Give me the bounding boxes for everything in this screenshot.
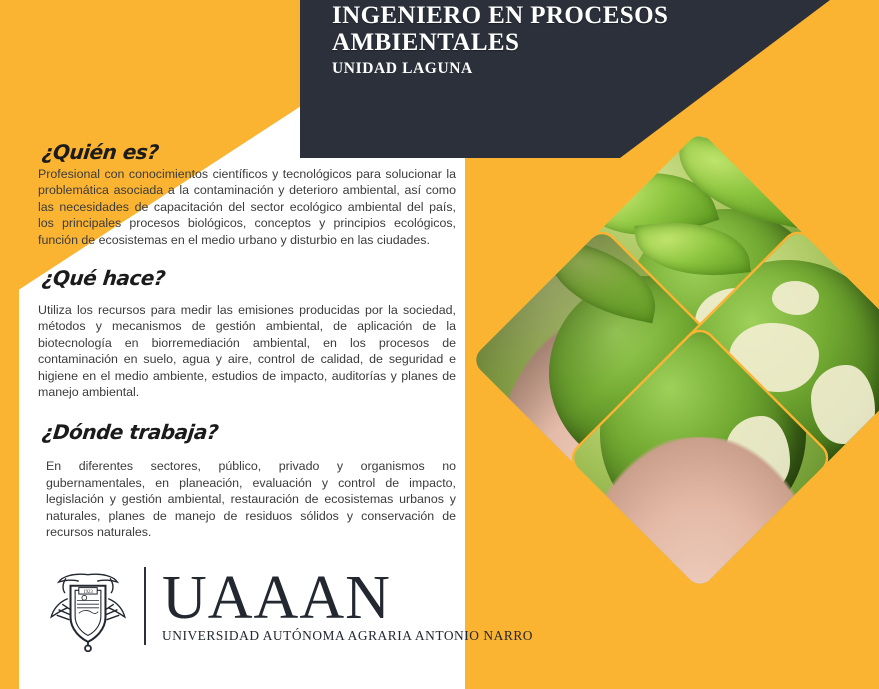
svg-text:1923: 1923 xyxy=(83,590,93,595)
header-title-line2: AMBIENTALES xyxy=(332,29,802,56)
section-que-hace: ¿Qué hace? Utiliza los recursos para med… xyxy=(38,266,456,400)
poster-root: INGENIERO EN PROCESOS AMBIENTALES UNIDAD… xyxy=(0,0,879,689)
header-block: INGENIERO EN PROCESOS AMBIENTALES UNIDAD… xyxy=(332,2,802,78)
section-heading: ¿Qué hace? xyxy=(41,266,167,290)
section-body: Utiliza los recursos para medir las emis… xyxy=(38,302,456,400)
section-heading: ¿Dónde trabaja? xyxy=(41,420,220,444)
section-donde-trabaja: ¿Dónde trabaja? En diferentes sectores, … xyxy=(38,420,456,540)
content-column: ¿Quién es? Profesional con conocimientos… xyxy=(38,140,456,545)
header-subtitle: UNIDAD LAGUNA xyxy=(332,60,802,78)
header-title-line1: INGENIERO EN PROCESOS xyxy=(332,2,802,29)
section-body: En diferentes sectores, público, privado… xyxy=(38,458,456,540)
section-quien-es: ¿Quién es? Profesional con conocimientos… xyxy=(38,140,456,248)
university-crest-icon: 1923 xyxy=(42,560,134,652)
logo-wordmark: UAAAN UNIVERSIDAD AUTÓNOMA AGRARIA ANTON… xyxy=(162,569,533,644)
diamond-photo-collage xyxy=(515,175,875,550)
logo-acronym: UAAAN xyxy=(162,569,533,627)
section-body: Profesional con conocimientos científico… xyxy=(38,166,456,248)
logo-divider xyxy=(144,567,146,645)
uaaan-logo: 1923 UAAAN UNIVERSIDAD AUTÓNOMA AGRARIA … xyxy=(42,560,533,652)
logo-full-name: UNIVERSIDAD AUTÓNOMA AGRARIA ANTONIO NAR… xyxy=(162,628,533,644)
section-heading: ¿Quién es? xyxy=(41,140,160,164)
